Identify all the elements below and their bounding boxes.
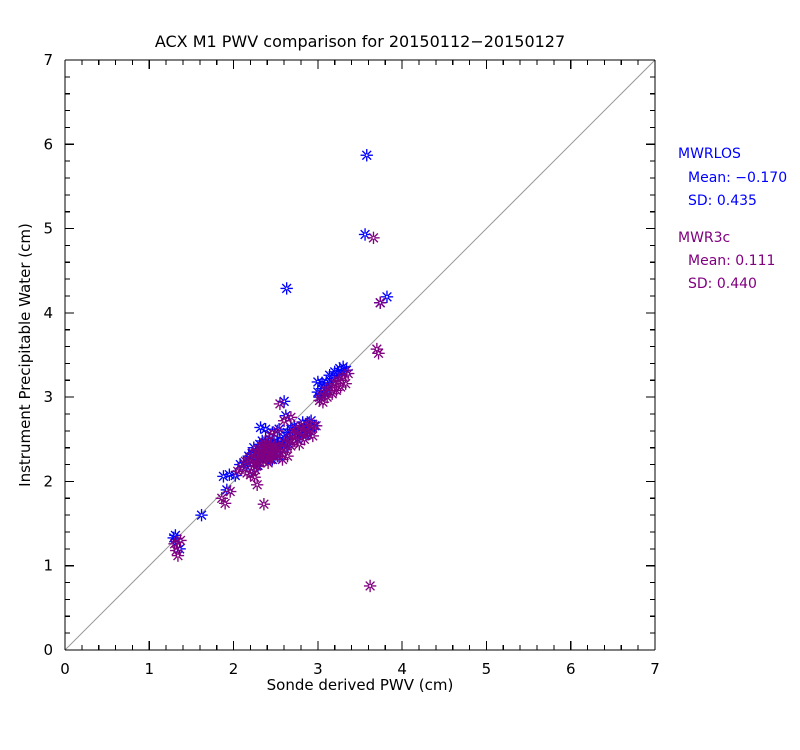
x-tick-label: 7 [650,660,660,678]
x-tick-label: 2 [229,660,239,678]
legend-mwrlos-sd: SD: 0.435 [688,193,757,209]
data-point-marker [274,398,286,410]
series-mwrlos-points [168,149,394,555]
chart-title: ACX M1 PWV comparison for 20150112−20150… [155,32,565,51]
data-point-marker [281,450,293,462]
one-to-one-reference-line [65,60,655,650]
y-tick-label: 0 [43,641,53,659]
y-tick-label: 2 [43,472,53,490]
y-tick-label: 4 [43,304,53,322]
series-mwr3c-points [168,232,386,593]
data-point-marker [219,497,231,509]
legend-mwr3c-mean: Mean: 0.111 [688,253,775,269]
y-axis-tick-labels: 01234567 [43,51,53,659]
legend-mwrlos-name: MWRLOS [678,146,741,162]
legend: MWRLOS Mean: −0.170 SD: 0.435 MWR3c Mean… [678,146,787,292]
data-point-marker [278,415,290,427]
data-point-marker [364,580,376,592]
x-tick-label: 5 [482,660,492,678]
data-point-marker [361,149,373,161]
data-point-marker [307,430,319,442]
legend-mwrlos-mean: Mean: −0.170 [688,170,787,186]
y-tick-label: 1 [43,557,53,575]
data-point-marker [224,485,236,497]
data-point-marker [280,409,292,421]
x-tick-label: 1 [145,660,155,678]
data-point-marker [280,282,292,294]
x-axis-title: Sonde derived PWV (cm) [267,676,454,694]
y-tick-label: 6 [43,135,53,153]
y-tick-label: 3 [43,388,53,406]
chart-canvas: ACX M1 PWV comparison for 20150112−20150… [0,0,800,750]
data-point-marker [264,430,276,442]
data-point-marker [342,367,354,379]
data-point-marker [251,479,263,491]
legend-mwr3c-sd: SD: 0.440 [688,276,757,292]
y-tick-label: 5 [43,220,53,238]
data-point-marker [249,463,261,475]
data-point-marker [254,421,266,433]
data-point-marker [195,509,207,521]
y-tick-label: 7 [43,51,53,69]
data-point-marker [172,549,184,561]
data-point-marker [285,411,297,423]
data-point-marker [339,377,351,389]
data-point-marker [367,232,379,244]
scatter-plot-figure: ACX M1 PWV comparison for 20150112−20150… [0,0,800,750]
data-point-marker [259,423,271,435]
data-point-marker [174,534,186,546]
data-point-marker [258,498,270,510]
legend-mwr3c-name: MWR3c [678,230,730,246]
x-tick-label: 6 [566,660,576,678]
data-point-marker [374,297,386,309]
y-axis-title: Instrument Precipitable Water (cm) [16,223,34,487]
x-tick-label: 0 [60,660,70,678]
data-point-marker [372,347,384,359]
